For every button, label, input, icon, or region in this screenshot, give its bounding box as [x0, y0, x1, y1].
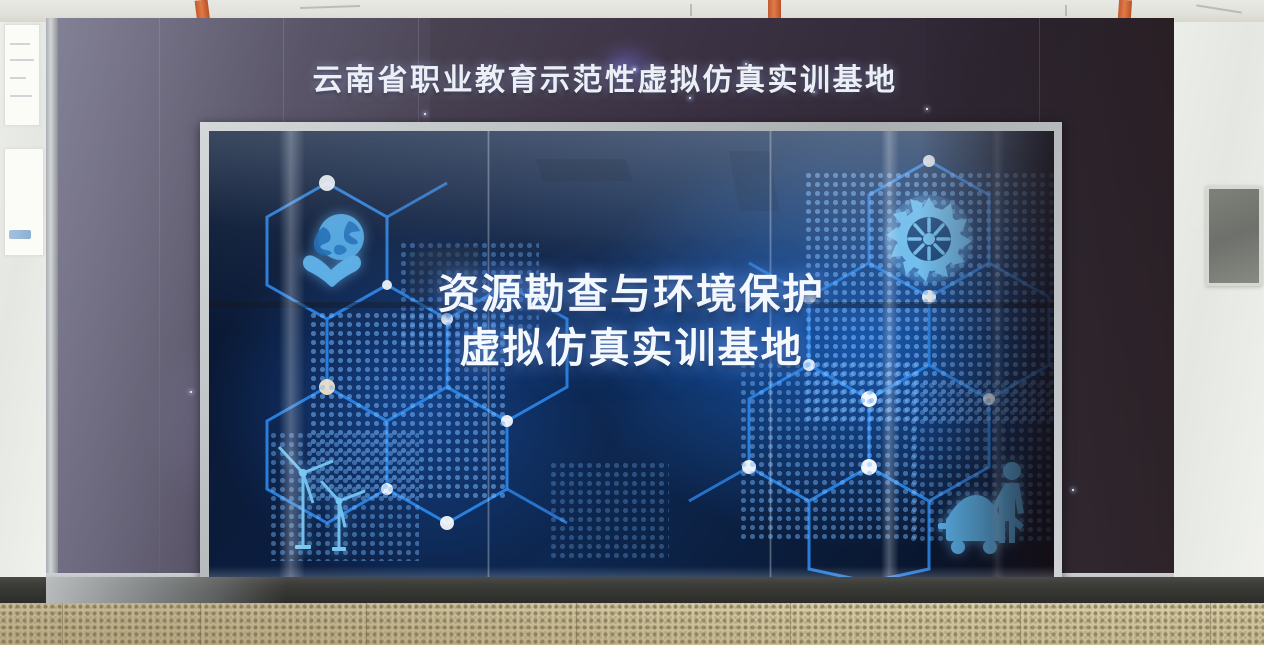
wall-poster-lower [4, 148, 44, 256]
wall-poster-upper [4, 24, 40, 126]
ceiling-line [1196, 4, 1242, 13]
exhibition-wall-scene: 云南省职业教育示范性虚拟仿真实训基地 [0, 0, 1264, 645]
dot-matrix-texture [399, 241, 539, 351]
wall-right [1174, 0, 1264, 645]
floor [0, 603, 1264, 645]
ceiling-line [300, 5, 360, 9]
wall-mounted-panel [1206, 186, 1262, 286]
hex-icon-wind-turbine[interactable] [261, 431, 381, 561]
ceiling-hanger [1065, 5, 1067, 16]
frame-trim-left [46, 18, 58, 579]
poster-graphic [9, 230, 31, 239]
baseboard-highlight [46, 577, 286, 603]
ceiling-hanger [690, 4, 692, 16]
dot-matrix-texture [549, 461, 669, 561]
display-screen-frame: 资源勘查与环境保护 虚拟仿真实训基地 [200, 122, 1062, 588]
hex-icon-drill-cutter-gear[interactable] [869, 179, 989, 299]
panel-mount-bracket [1190, 228, 1206, 232]
floor-texture [0, 603, 1264, 645]
display-screen[interactable]: 资源勘查与环境保护 虚拟仿真实训基地 [209, 131, 1054, 582]
hex-icon-globe-in-hands[interactable] [281, 189, 401, 309]
baseboard [0, 577, 1264, 603]
dot-matrix-texture [739, 361, 919, 541]
hex-icon-miner-ore-cart[interactable] [929, 451, 1054, 571]
